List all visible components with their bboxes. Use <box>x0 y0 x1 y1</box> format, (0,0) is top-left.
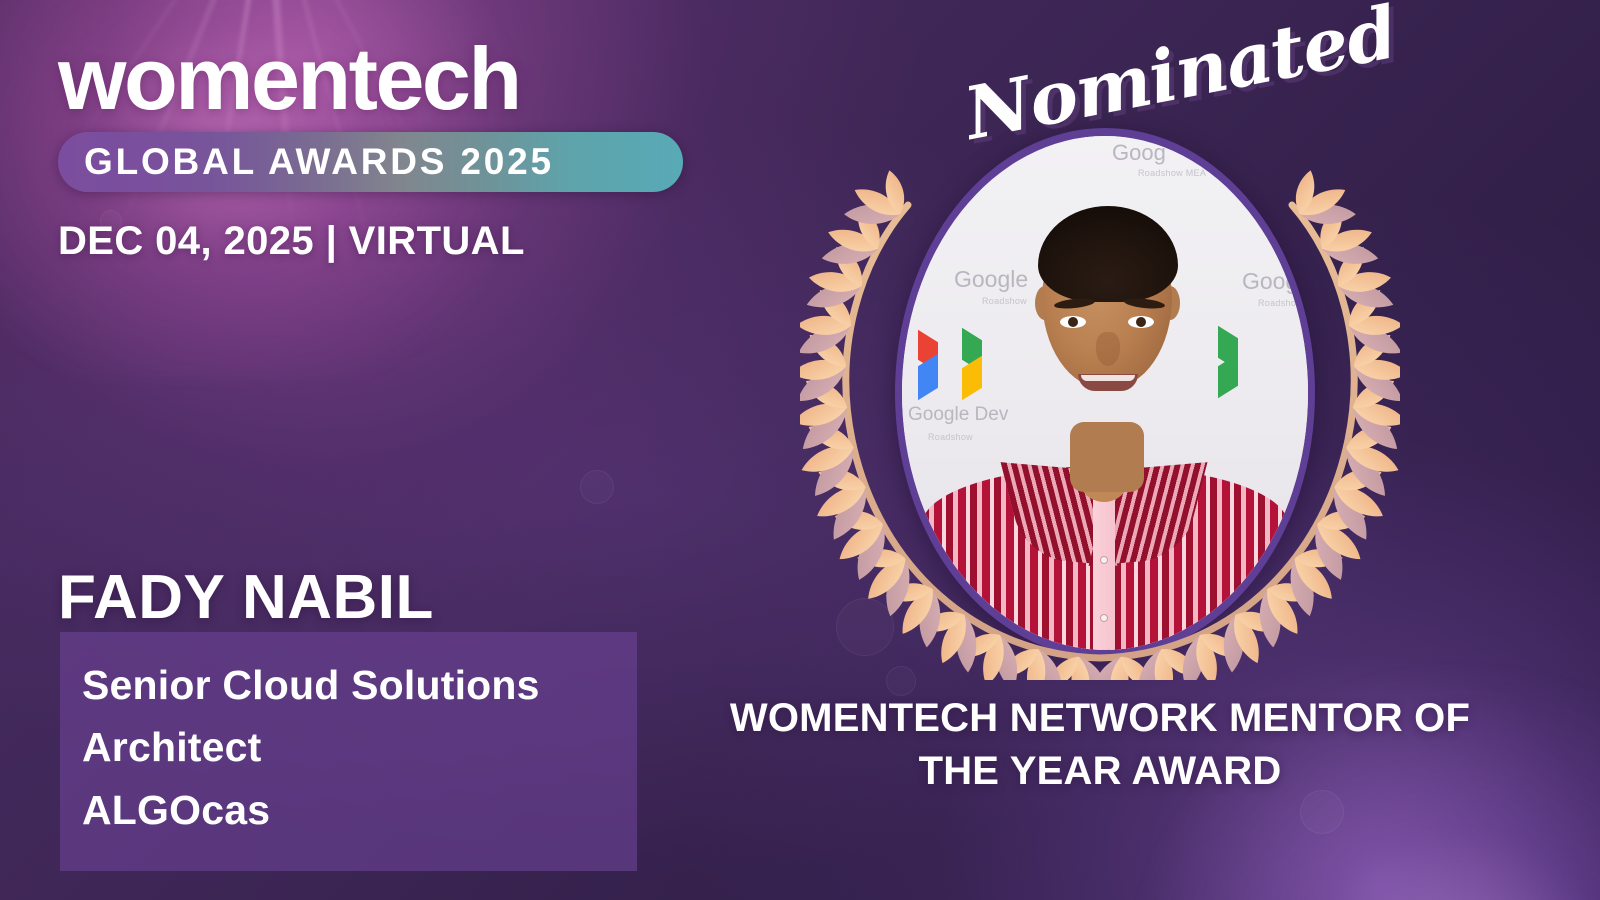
mouth <box>1078 374 1138 391</box>
neck <box>1070 422 1144 492</box>
award-title-line-1: WOMENTECH NETWORK MENTOR OF <box>660 692 1540 745</box>
backdrop-brand-right: Googl <box>1242 268 1303 295</box>
backdrop-brand-left: Google <box>954 266 1028 293</box>
role-line-3: ALGOcas <box>82 779 637 841</box>
portrait-ring: Goog Roadshow MEA Google Roadshow Googl … <box>895 128 1315 658</box>
role-line-1: Senior Cloud Solutions <box>82 654 637 716</box>
gdg-logo-label: Google Dev <box>908 404 1008 426</box>
award-title-line-2: THE YEAR AWARD <box>660 745 1540 798</box>
global-awards-pill: GLOBAL AWARDS 2025 <box>58 132 683 192</box>
nominee-name: FADY NABIL <box>58 562 434 633</box>
nomination-badge: Goog Roadshow MEA Google Roadshow Googl … <box>800 110 1400 680</box>
award-title: WOMENTECH NETWORK MENTOR OF THE YEAR AWA… <box>660 692 1540 798</box>
shirt-button <box>1100 556 1108 564</box>
nose <box>1096 332 1120 366</box>
portrait-photo: Goog Roadshow MEA Google Roadshow Googl … <box>902 136 1308 650</box>
backdrop-brand-top: Goog <box>1112 140 1166 166</box>
nominee-role-panel: Senior Cloud Solutions Architect ALGOcas <box>60 632 637 871</box>
backdrop-sub-left: Roadshow <box>982 296 1027 306</box>
backdrop-sub-right: Roadshow <box>1258 298 1303 308</box>
gdg-chevron-icon-right <box>1218 330 1278 396</box>
role-line-2: Architect <box>82 716 637 778</box>
gdg-logo-sub: Roadshow <box>928 432 973 442</box>
womentech-wordmark: womentech <box>58 34 698 124</box>
bokeh-circle <box>580 470 614 504</box>
shirt-placket <box>1093 492 1115 650</box>
eye-right <box>1128 316 1154 328</box>
backdrop-sub-top: Roadshow MEA <box>1138 168 1206 178</box>
award-poster: womentech GLOBAL AWARDS 2025 DEC 04, 202… <box>0 0 1600 900</box>
brand-block: womentech GLOBAL AWARDS 2025 DEC 04, 202… <box>58 34 698 264</box>
event-date-label: DEC 04, 2025 | VIRTUAL <box>58 219 698 264</box>
eye-left <box>1060 316 1086 328</box>
gdg-chevron-icon <box>918 332 1010 398</box>
nominated-status-label: Nominated <box>958 0 1403 156</box>
shirt-button <box>1100 614 1108 622</box>
global-awards-label: GLOBAL AWARDS 2025 <box>58 141 554 183</box>
